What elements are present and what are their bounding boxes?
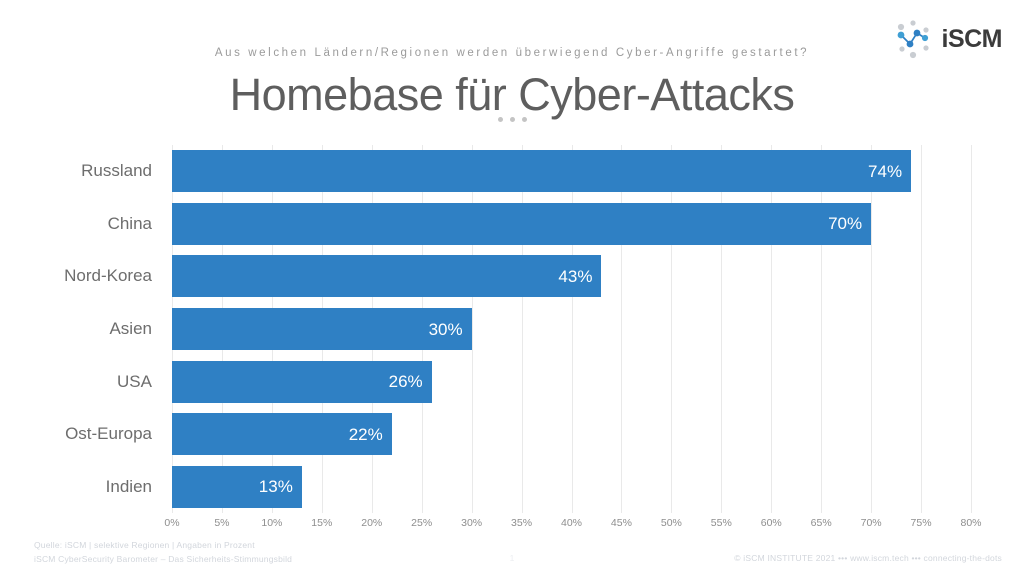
category-label: China <box>0 198 162 251</box>
x-axis-tick-label: 55% <box>711 517 732 529</box>
x-axis-tick-label: 60% <box>761 517 782 529</box>
bar[interactable]: 70% <box>172 203 871 245</box>
bar-series: 74% 70% 43% 30% 26% <box>172 145 971 513</box>
bar[interactable]: 22% <box>172 413 392 455</box>
x-axis-tick-label: 15% <box>311 517 332 529</box>
page-title: Homebase für Cyber-Attacks <box>0 69 1024 121</box>
bar-chart: Russland China Nord-Korea Asien USA Ost-… <box>0 145 1024 520</box>
x-axis-tick-label: 65% <box>811 517 832 529</box>
bar-row: 70% <box>172 198 971 251</box>
category-label: Nord-Korea <box>0 250 162 303</box>
category-label: Indien <box>0 460 162 513</box>
value-axis: 0%5%10%15%20%25%30%35%40%45%50%55%60%65%… <box>172 513 971 535</box>
bar-value-label: 43% <box>558 268 592 285</box>
x-axis-tick-label: 40% <box>561 517 582 529</box>
bar-value-label: 13% <box>259 478 293 495</box>
x-axis-tick-label: 80% <box>960 517 981 529</box>
x-axis-tick-label: 25% <box>411 517 432 529</box>
gridline <box>971 145 972 513</box>
x-axis-tick-label: 70% <box>861 517 882 529</box>
title-divider-dots <box>0 117 1024 122</box>
plot-area: 74% 70% 43% 30% 26% <box>172 145 971 513</box>
bar-row: 43% <box>172 250 971 303</box>
category-axis: Russland China Nord-Korea Asien USA Ost-… <box>0 145 162 513</box>
x-axis-tick-label: 75% <box>911 517 932 529</box>
bar[interactable]: 30% <box>172 308 472 350</box>
bar[interactable]: 26% <box>172 361 432 403</box>
x-axis-tick-label: 30% <box>461 517 482 529</box>
bar[interactable]: 74% <box>172 150 911 192</box>
divider-dot <box>498 117 503 122</box>
divider-dot <box>510 117 515 122</box>
x-axis-tick-label: 0% <box>164 517 179 529</box>
bar-row: 74% <box>172 145 971 198</box>
x-axis-tick-label: 5% <box>214 517 229 529</box>
x-axis-tick-label: 50% <box>661 517 682 529</box>
category-label: Russland <box>0 145 162 198</box>
footer-source: Quelle: iSCM | selektive Regionen | Anga… <box>34 538 292 552</box>
bar-row: 22% <box>172 408 971 461</box>
x-axis-tick-label: 20% <box>361 517 382 529</box>
bar-row: 13% <box>172 460 971 513</box>
chart-subtitle: Aus welchen Ländern/Regionen werden über… <box>0 47 1024 59</box>
bar-value-label: 22% <box>349 426 383 443</box>
x-axis-tick-label: 45% <box>611 517 632 529</box>
bar-value-label: 70% <box>828 215 862 232</box>
x-axis-tick-label: 10% <box>261 517 282 529</box>
category-label: USA <box>0 355 162 408</box>
bar-value-label: 30% <box>429 321 463 338</box>
category-label: Ost-Europa <box>0 408 162 461</box>
bar-row: 30% <box>172 303 971 356</box>
divider-dot <box>522 117 527 122</box>
bar-value-label: 74% <box>868 163 902 180</box>
category-label: Asien <box>0 303 162 356</box>
x-axis-tick-label: 35% <box>511 517 532 529</box>
bar[interactable]: 43% <box>172 255 601 297</box>
bar[interactable]: 13% <box>172 466 302 508</box>
bar-value-label: 26% <box>389 373 423 390</box>
footer-copyright: © iSCM INSTITUTE 2021 ••• www.iscm.tech … <box>734 553 1002 563</box>
bar-row: 26% <box>172 355 971 408</box>
